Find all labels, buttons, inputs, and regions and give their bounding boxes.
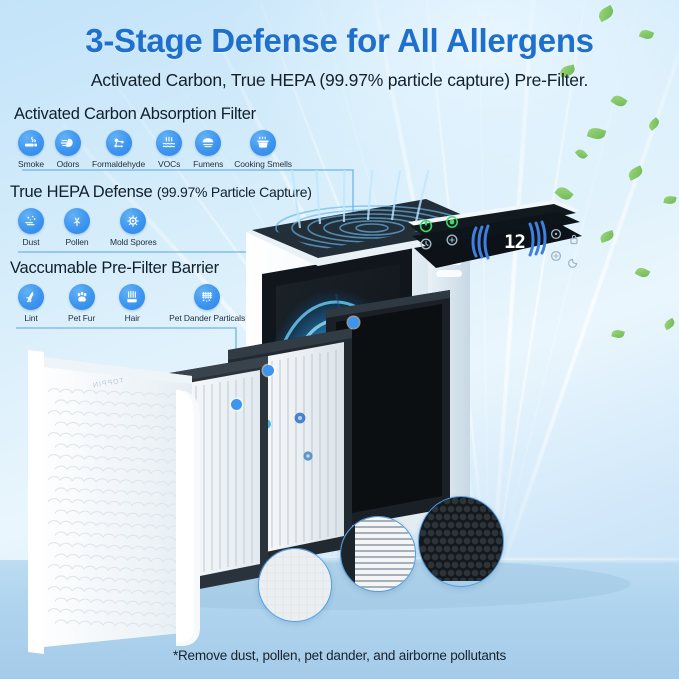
- callout-dot-carbon: [348, 317, 359, 328]
- feature-label: Smoke: [18, 159, 44, 169]
- page-subtitle: Activated Carbon, True HEPA (99.97% part…: [0, 70, 679, 91]
- smoke-icon: [18, 130, 44, 156]
- infographic-canvas: 3-Stage Defense for All Allergens Activa…: [0, 0, 679, 679]
- feature-smoke[interactable]: Smoke: [18, 130, 44, 169]
- formaldehyde-icon: [106, 130, 132, 156]
- stage-title-carbon: Activated Carbon Absorption Filter: [14, 105, 292, 124]
- feature-label: Formaldehyde: [92, 159, 145, 169]
- front-cover-panel: [28, 350, 200, 654]
- feature-formaldehyde[interactable]: Formaldehyde: [92, 130, 145, 169]
- vocs-icon: [156, 130, 182, 156]
- cooking-smells-icon: [250, 130, 276, 156]
- feature-label: Odors: [57, 159, 80, 169]
- feature-label: Cooking Smells: [234, 159, 292, 169]
- footnote-text: *Remove dust, pollen, pet dander, and ai…: [0, 648, 679, 663]
- icon-row-carbon: Smoke Odors: [14, 130, 292, 169]
- fumens-icon: [195, 130, 221, 156]
- filter-stack: [0, 280, 480, 679]
- digital-display-value: 12: [504, 231, 525, 253]
- feature-odors[interactable]: Odors: [55, 130, 81, 169]
- callout-dot-hepa: [263, 365, 274, 376]
- sleep-icon[interactable]: [569, 259, 577, 267]
- light-icon[interactable]: [552, 252, 561, 261]
- feature-cooking-smells[interactable]: Cooking Smells: [234, 130, 292, 169]
- feature-label: Fumens: [193, 159, 223, 169]
- stage-block-carbon: Activated Carbon Absorption Filter Smoke: [14, 105, 292, 169]
- feature-vocs[interactable]: VOCs: [156, 130, 182, 169]
- stage-title-carbon-text: Activated Carbon Absorption Filter: [14, 105, 256, 123]
- callout-dot-prefilter: [231, 399, 242, 410]
- feature-fumens[interactable]: Fumens: [193, 130, 223, 169]
- hepa-pleat-detail: [340, 516, 416, 592]
- prefilter-mesh-detail: [258, 548, 332, 622]
- feature-label: VOCs: [158, 159, 180, 169]
- carbon-honeycomb-detail: [418, 496, 504, 587]
- odors-icon: [55, 130, 81, 156]
- page-title: 3-Stage Defense for All Allergens: [0, 22, 679, 60]
